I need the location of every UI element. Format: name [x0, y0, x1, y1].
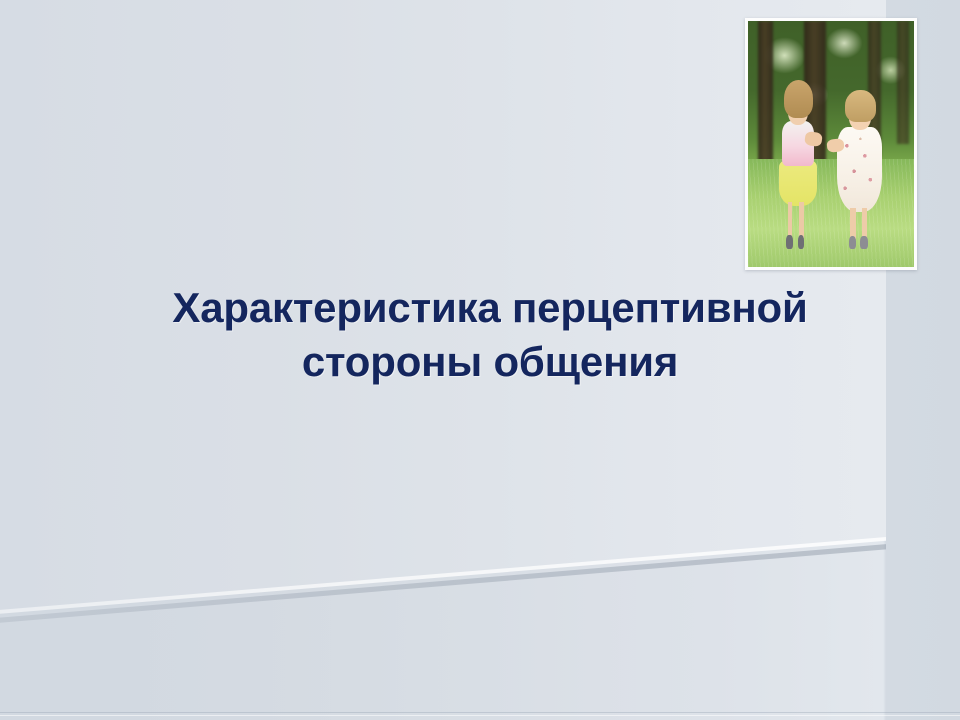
photo-frame: [745, 18, 917, 270]
girl-left-skirt: [779, 161, 817, 206]
girl-left-shoe: [798, 235, 804, 249]
bottom-divider-highlight: [0, 715, 960, 716]
bottom-divider-line: [0, 712, 960, 713]
girl-right-figure: [834, 90, 887, 252]
tree-trunk: [897, 21, 909, 144]
girl-left-leg: [799, 202, 803, 238]
girl-left-leg: [788, 202, 792, 238]
girl-right-leg: [862, 208, 867, 239]
girl-left-hair: [784, 80, 814, 118]
girl-left-figure: [775, 80, 825, 252]
grass-lawn: [748, 159, 914, 267]
girl-right-shoe: [849, 236, 856, 249]
photo-two-girls-in-park: [748, 21, 914, 267]
girl-right-shoe: [860, 236, 867, 249]
tree-trunk: [758, 21, 773, 174]
presentation-slide: Характеристика перцептивной стороны обще…: [0, 0, 960, 720]
girl-left-shoe: [786, 235, 792, 249]
girl-right-leg: [850, 208, 855, 239]
girl-right-arm: [826, 138, 844, 153]
girl-right-dress: [837, 127, 882, 211]
slide-title: Характеристика перцептивной стороны обще…: [60, 281, 920, 389]
girl-right-hair: [845, 90, 876, 122]
girl-left-arm: [805, 131, 824, 147]
